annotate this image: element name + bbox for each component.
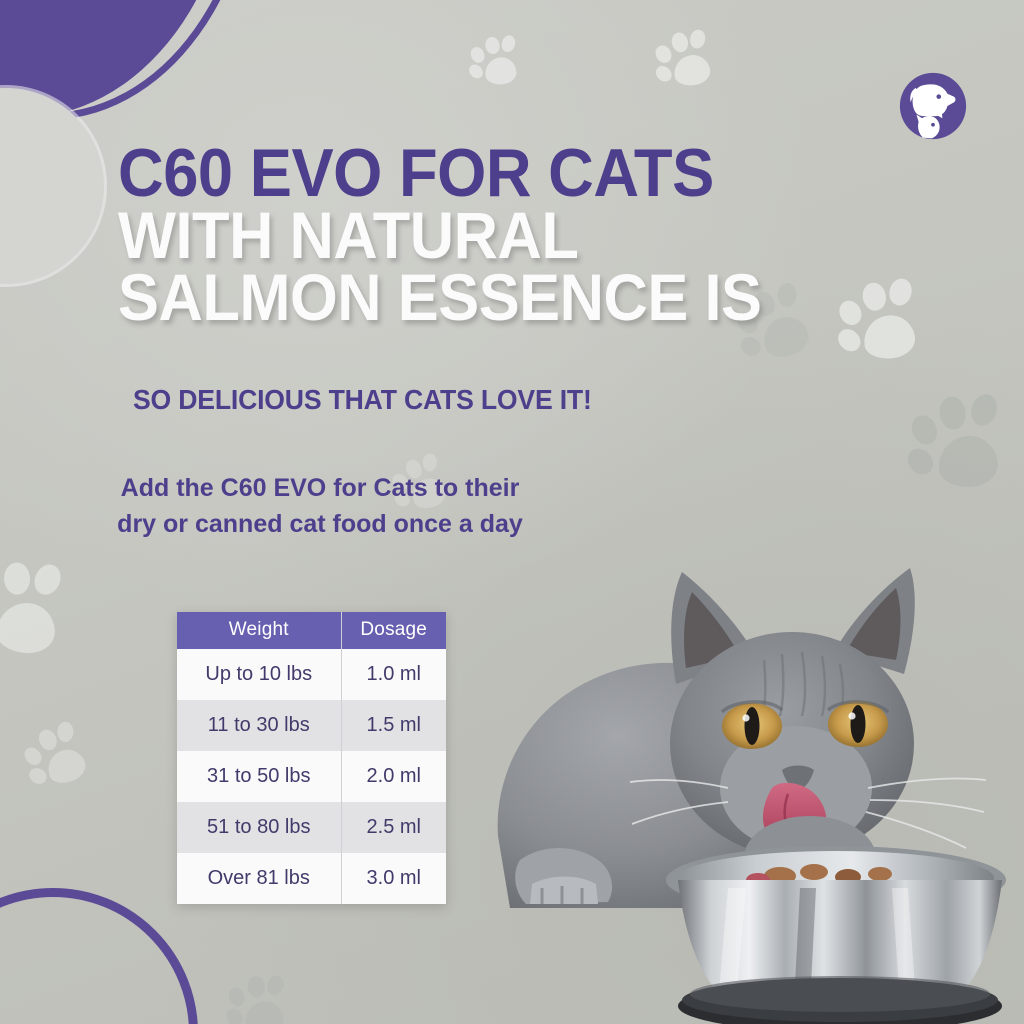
dosage-table: Weight Dosage Up to 10 lbs 1.0 ml 11 to … [177, 612, 446, 904]
table-row: Over 81 lbs 3.0 ml [177, 853, 446, 904]
dosage-table-body: Up to 10 lbs 1.0 ml 11 to 30 lbs 1.5 ml … [177, 649, 446, 904]
paw-print-icon [19, 711, 98, 790]
table-row: 31 to 50 lbs 2.0 ml [177, 751, 446, 802]
headline-line-3: SALMON ESSENCE IS [118, 267, 825, 328]
table-row: 11 to 30 lbs 1.5 ml [177, 700, 446, 751]
cell-dosage: 1.5 ml [341, 700, 446, 751]
dog-and-cat-logo-icon [897, 70, 969, 142]
top-left-purple-blob [0, 0, 266, 135]
cell-dosage: 2.5 ml [341, 802, 446, 853]
cell-dosage: 3.0 ml [341, 853, 446, 904]
cell-dosage: 2.0 ml [341, 751, 446, 802]
cell-dosage: 1.0 ml [341, 649, 446, 700]
paw-print-icon [221, 959, 304, 1024]
table-row: 51 to 80 lbs 2.5 ml [177, 802, 446, 853]
paw-print-icon [653, 20, 723, 90]
headline-line-1: C60 EVO FOR CATS [118, 142, 825, 205]
instruction-text: Add the C60 EVO for Cats to their dry or… [110, 470, 530, 542]
bottom-left-purple-ring [0, 888, 198, 1024]
cell-weight: 11 to 30 lbs [177, 700, 341, 751]
cell-weight: Over 81 lbs [177, 853, 341, 904]
column-header-dosage: Dosage [341, 612, 446, 649]
headline-block: C60 EVO FOR CATS WITH NATURAL SALMON ESS… [118, 142, 878, 328]
column-header-weight: Weight [177, 612, 341, 649]
cat-photo [480, 488, 1024, 1024]
table-row: Up to 10 lbs 1.0 ml [177, 649, 446, 700]
cell-weight: 51 to 80 lbs [177, 802, 341, 853]
paw-print-icon [901, 371, 1024, 498]
top-left-grey-circle [0, 88, 104, 284]
top-left-purple-ring [0, 0, 289, 138]
headline-line-2: WITH NATURAL [118, 205, 825, 266]
subheadline: SO DELICIOUS THAT CATS LOVE IT! [133, 384, 798, 416]
paw-print-icon [0, 535, 93, 669]
cell-weight: Up to 10 lbs [177, 649, 341, 700]
paw-print-icon [466, 24, 532, 90]
cell-weight: 31 to 50 lbs [177, 751, 341, 802]
promotional-poster: C60 EVO FOR CATS WITH NATURAL SALMON ESS… [0, 0, 1024, 1024]
table-header-row: Weight Dosage [177, 612, 446, 649]
